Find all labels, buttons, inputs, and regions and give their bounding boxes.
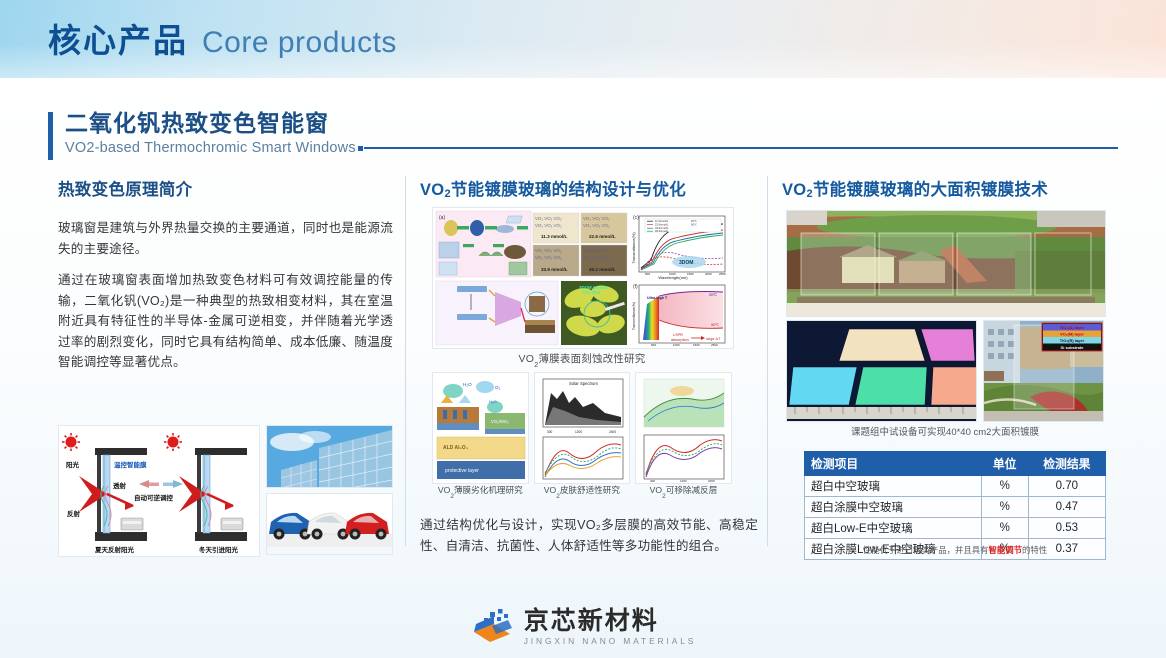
figure-panel-etching: (a) (b) VO₂ VO₂ VO₂VO₂ VO₂ VO₂ — [432, 207, 734, 349]
photo-color-samples — [786, 320, 977, 422]
caption-degradation: VO2薄膜劣化机理研究 — [432, 484, 529, 498]
header-title-group: 核心产品 Core products — [48, 14, 397, 62]
figure-panel-skin-comfort: Solar Spectrum 300 1200 2400 — [534, 372, 631, 484]
svg-text:500: 500 — [651, 343, 656, 347]
svg-text:1500: 1500 — [693, 343, 700, 347]
svg-text:TiO₂(R) layer: TiO₂(R) layer — [1060, 338, 1085, 343]
svg-text:VO₂ VO₂ VO₂: VO₂ VO₂ VO₂ — [583, 248, 610, 253]
svg-text:22.6 mmol/L: 22.6 mmol/L — [589, 234, 616, 239]
diagram-caption-winter: 冬天引进阳光 — [199, 544, 238, 554]
svg-text:33.9 mmol/L: 33.9 mmol/L — [541, 267, 568, 272]
photo-campus-coated-glass: TiO₂(A) layer VO₂(M) layer TiO₂(R) layer… — [983, 320, 1104, 422]
logo-text-group: 京芯新材料 JINGXIN NANO MATERIALS — [524, 609, 697, 645]
note-post: 的特性 — [1022, 545, 1047, 555]
diagram-label-smartfilm: 温控智能膜 — [114, 459, 147, 469]
section-title-block: 二氧化钒热致变色智能窗 VO2-based Thermochromic Smar… — [48, 108, 1118, 156]
svg-text:20℃: 20℃ — [709, 293, 717, 297]
cap3-sub: 2 — [662, 493, 666, 500]
note-pre: 性能优于进口同类产品，并且具有 — [863, 545, 989, 555]
figure-etching-caption: VO2薄膜表面刻蚀改性研究 — [432, 351, 732, 367]
svg-text:VO₂ VO₂ VO₂: VO₂ VO₂ VO₂ — [583, 223, 610, 228]
slide-root: 核心产品 Core products 二氧化钒热致变色智能窗 VO2-based… — [0, 0, 1166, 658]
column-divider-1 — [405, 176, 406, 546]
section-accent-bar — [48, 112, 53, 160]
svg-text:large ΔT: large ΔT — [706, 337, 721, 341]
svg-text:VO₂ VO₂ VO₂: VO₂ VO₂ VO₂ — [535, 248, 562, 253]
middle-figure-row: H₂O O₂ H₂O VO₂/WO₃ ALD Al₂O₃ protective … — [432, 372, 732, 482]
cap3-pre: VO — [650, 485, 662, 495]
fig-cap-post: 薄膜表面刻蚀改性研究 — [538, 353, 645, 365]
th-result: 检测结果 — [1028, 452, 1105, 476]
svg-text:45.2 mmol/L: 45.2 mmol/L — [589, 267, 616, 272]
svg-text:ALD Al₂O₃: ALD Al₂O₃ — [443, 445, 469, 451]
thermochromic-window-diagram: 阳光 温控智能膜 透射 反射 自动可逆调控 夏天反射阳光 冬天引进阳光 — [58, 425, 260, 557]
svg-text:2500: 2500 — [711, 343, 718, 347]
svg-text:45.2mmol/L: 45.2mmol/L — [655, 229, 669, 233]
fig-cap-pre: VO — [519, 353, 535, 365]
svg-text:11.3mmol/L: 11.3mmol/L — [655, 219, 669, 223]
header-title-cn: 核心产品 — [48, 14, 188, 62]
th-item: 检测项目 — [805, 452, 982, 476]
svg-text:2500: 2500 — [719, 272, 726, 276]
cap1-sub: 2 — [450, 493, 454, 500]
svg-text:VO₂/WO₃: VO₂/WO₃ — [491, 419, 509, 424]
right-heading-pre: VO — [782, 181, 806, 199]
logo-mark-icon — [470, 608, 514, 646]
svg-text:TiO₂(A) layer: TiO₂(A) layer — [1060, 325, 1085, 330]
table-footnote: 性能优于进口同类产品，并且具有智能调节的特性 — [804, 544, 1106, 556]
svg-text:22.6mmol/L: 22.6mmol/L — [655, 223, 669, 227]
section-title-cn: 二氧化钒热致变色智能窗 — [65, 108, 1118, 138]
middle-heading-post: 节能镀膜玻璃的结构设计与优化 — [451, 181, 686, 199]
middle-heading-sub: 2 — [444, 188, 450, 200]
svg-text:VO₂ VO₂ VO₂: VO₂ VO₂ VO₂ — [535, 223, 562, 228]
middle-summary-text: 通过结构优化与设计，实现VO₂多层膜的高效节能、高稳定性、自清洁、抗菌性、人体舒… — [420, 515, 758, 556]
cell-result: 0.53 — [1028, 518, 1105, 539]
cap2-pre: VO — [544, 485, 556, 495]
cell-result: 0.70 — [1028, 476, 1105, 497]
table-row: 超白Low-E中空玻璃 % 0.53 — [805, 518, 1106, 539]
svg-text:VO₂(M) layer: VO₂(M) layer — [1060, 332, 1084, 337]
cell-item: 超白中空玻璃 — [805, 476, 982, 497]
page-header: 核心产品 Core products — [0, 0, 1166, 78]
diagram-caption-summer: 夏天反射阳光 — [95, 544, 134, 554]
svg-text:VO₂ VO₂ VO₂: VO₂ VO₂ VO₂ — [583, 255, 610, 260]
svg-text:VO₂ film: VO₂ film — [583, 290, 600, 295]
cell-unit: % — [981, 497, 1028, 518]
figure-etching-svg: (a) (b) VO₂ VO₂ VO₂VO₂ VO₂ VO₂ — [433, 208, 733, 348]
svg-text:11.3 mmol/L: 11.3 mmol/L — [541, 234, 567, 239]
fig-cap-sub: 2 — [534, 360, 538, 369]
caption-skin-comfort: VO2皮肤舒适性研究 — [534, 484, 631, 498]
svg-text:VO₂ VO₂ VO₂: VO₂ VO₂ VO₂ — [535, 255, 562, 260]
left-column-heading: 热致变色原理简介 — [58, 176, 393, 200]
left-paragraph-2: 通过在玻璃窗表面增加热致变色材料可有效调控能量的传输，二氧化钒(VO₂)是一种典… — [58, 270, 393, 373]
svg-text:90℃: 90℃ — [691, 223, 697, 227]
svg-text:1500: 1500 — [687, 272, 694, 276]
left-paragraph-1: 玻璃窗是建筑与外界热量交换的主要通道，同时也是能源流失的主要途径。 — [58, 218, 393, 259]
figure-panel-degradation: H₂O O₂ H₂O VO₂/WO₃ ALD Al₂O₃ protective … — [432, 372, 529, 484]
middle-column-heading: VO2节能镀膜玻璃的结构设计与优化 — [420, 176, 755, 200]
middle-figure-captions: VO2薄膜劣化机理研究 VO2皮肤舒适性研究 VO2可移除减反层 — [432, 484, 732, 498]
cap1-post: 薄膜劣化机理研究 — [454, 485, 523, 495]
svg-text:protective layer: protective layer — [445, 468, 479, 474]
svg-text:400: 400 — [650, 479, 655, 483]
svg-text:300: 300 — [547, 430, 553, 434]
svg-text:H₂O: H₂O — [489, 399, 497, 404]
right-photo-row: TiO₂(A) layer VO₂(M) layer TiO₂(R) layer… — [786, 320, 1104, 420]
window-diagram-svg — [59, 426, 259, 556]
svg-text:500: 500 — [645, 272, 650, 276]
note-highlight: 智能调节 — [989, 545, 1023, 555]
svg-text:1200: 1200 — [680, 479, 687, 483]
svg-text:1000: 1000 — [673, 343, 680, 347]
table-header-row: 检测项目 单位 检测结果 — [805, 452, 1106, 476]
caption-antireflection: VO2可移除减反层 — [635, 484, 732, 498]
svg-text:absorption: absorption — [671, 338, 689, 342]
cell-result: 0.47 — [1028, 497, 1105, 518]
column-left: 热致变色原理简介 玻璃窗是建筑与外界热量交换的主要通道，同时也是能源流失的主要途… — [58, 176, 393, 384]
svg-text:Transmittance(%): Transmittance(%) — [631, 232, 636, 264]
cap2-sub: 2 — [556, 493, 560, 500]
svg-text:(c): (c) — [633, 215, 639, 221]
svg-text:1200: 1200 — [575, 430, 582, 434]
svg-text:90℃: 90℃ — [711, 323, 719, 327]
right-heading-sub: 2 — [806, 188, 812, 200]
logo-name-en: JINGXIN NANO MATERIALS — [524, 637, 697, 645]
svg-text:2000: 2000 — [705, 272, 712, 276]
svg-text:LSPR: LSPR — [673, 333, 683, 337]
svg-text:1000: 1000 — [669, 272, 676, 276]
svg-text:20℃: 20℃ — [691, 219, 697, 223]
section-subtitle-row: VO2-based Thermochromic Smart Windows — [65, 140, 1118, 156]
company-logo: 京芯新材料 JINGXIN NANO MATERIALS — [470, 608, 697, 646]
left-illustration-area: 阳光 温控智能膜 透射 反射 自动可逆调控 夏天反射阳光 冬天引进阳光 — [58, 425, 393, 555]
svg-text:Transmittance(%): Transmittance(%) — [632, 302, 636, 330]
svg-text:O₂: O₂ — [495, 385, 501, 390]
right-column-heading: VO2节能镀膜玻璃的大面积镀膜技术 — [782, 176, 1117, 200]
left-photo-column — [266, 425, 391, 555]
middle-summary-block: 通过结构优化与设计，实现VO₂多层膜的高效节能、高稳定性、自清洁、抗菌性、人体舒… — [420, 515, 758, 567]
svg-text:(f): (f) — [633, 284, 638, 290]
svg-text:Ultra-high T: Ultra-high T — [647, 296, 668, 300]
photo-glass-building — [266, 425, 393, 488]
svg-text:3DOM: 3DOM — [679, 260, 693, 266]
table-row: 超白中空玻璃 % 0.70 — [805, 476, 1106, 497]
right-photo-caption: 课题组中试设备可实现40*40 cm2大面积镀膜 — [786, 424, 1104, 438]
svg-text:H₂O: H₂O — [463, 382, 472, 387]
cell-unit: % — [981, 476, 1028, 497]
section-rule — [364, 147, 1118, 149]
cell-item: 超白Low-E中空玻璃 — [805, 518, 982, 539]
cap2-post: 皮肤舒适性研究 — [560, 485, 620, 495]
diagram-label-auto-control: 自动可逆调控 — [134, 492, 173, 502]
column-divider-2 — [767, 176, 768, 546]
svg-text:2000: 2000 — [708, 479, 715, 483]
svg-text:VO₂ VO₂ VO₂: VO₂ VO₂ VO₂ — [583, 216, 610, 221]
section-title-en: VO2-based Thermochromic Smart Windows — [65, 140, 356, 156]
table-row: 超白涂膜中空玻璃 % 0.47 — [805, 497, 1106, 518]
diagram-label-transmit: 透射 — [113, 480, 126, 490]
logo-name-cn: 京芯新材料 — [524, 609, 697, 634]
cap3-post: 可移除减反层 — [666, 485, 718, 495]
th-unit: 单位 — [981, 452, 1028, 476]
svg-text:2400: 2400 — [609, 430, 616, 434]
svg-text:Solar Spectrum: Solar Spectrum — [569, 381, 598, 386]
photo-cars — [266, 493, 393, 556]
header-title-en: Core products — [202, 26, 397, 60]
middle-heading-pre: VO — [420, 181, 444, 199]
footer: 京芯新材料 JINGXIN NANO MATERIALS — [0, 608, 1166, 646]
svg-text:(a): (a) — [439, 215, 445, 221]
svg-text:Si substrate: Si substrate — [1060, 345, 1084, 350]
svg-text:VO₂ VO₂ VO₂: VO₂ VO₂ VO₂ — [535, 216, 562, 221]
photo-large-area-coating — [786, 210, 1106, 317]
diagram-label-reflect: 反射 — [67, 508, 80, 518]
figure-panel-antireflection: 40012002000 — [635, 372, 732, 484]
cap1-pre: VO — [438, 485, 450, 495]
right-heading-post: 节能镀膜玻璃的大面积镀膜技术 — [813, 181, 1048, 199]
cell-unit: % — [981, 518, 1028, 539]
cell-item: 超白涂膜中空玻璃 — [805, 497, 982, 518]
diagram-label-sunlight: 阳光 — [66, 459, 79, 469]
